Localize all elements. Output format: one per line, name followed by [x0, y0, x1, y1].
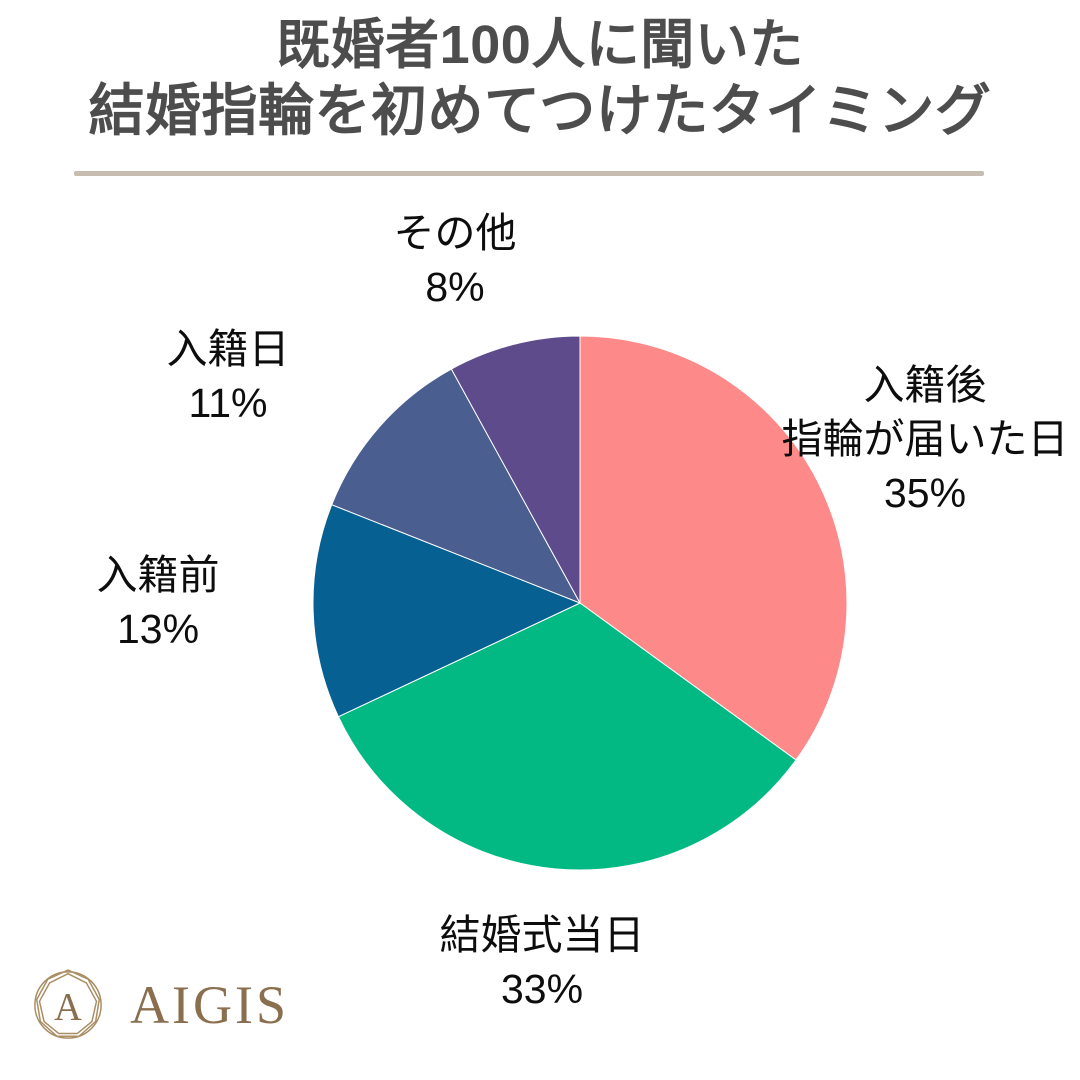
- pie-slice-group: [313, 336, 847, 870]
- aigis-wordmark: AIGIS: [130, 978, 289, 1032]
- pie-slice: [451, 336, 580, 603]
- aigis-emblem-letter: A: [54, 987, 82, 1029]
- pie-label-nyuseki-day-value: 11%: [88, 376, 368, 430]
- aigis-emblem-icon: A: [22, 959, 114, 1051]
- page-title: 既婚者100人に聞いた 結婚指輪を初めてつけたタイミング: [0, 14, 1080, 144]
- pie-label-after-registration-name-line2: 指輪が届いた日: [770, 412, 1080, 466]
- pie-label-nyuseki-day: 入籍日 11%: [88, 322, 368, 430]
- pie-slice: [338, 603, 796, 870]
- pie-slice: [313, 505, 580, 717]
- pie-label-other: その他 8%: [290, 206, 620, 314]
- title-line-1: 既婚者100人に聞いた: [0, 14, 1080, 78]
- pie-label-wedding-day-name: 結婚式当日: [392, 908, 692, 962]
- pie-label-nyuseki-before-name: 入籍前: [18, 548, 298, 602]
- pie-label-wedding-day-value: 33%: [392, 962, 692, 1016]
- pie-label-other-name: その他: [290, 206, 620, 260]
- pie-slice: [332, 369, 580, 603]
- infographic-canvas: 既婚者100人に聞いた 結婚指輪を初めてつけたタイミング その他 8% 入籍日 …: [0, 0, 1080, 1080]
- title-underline-divider: [74, 171, 984, 176]
- pie-label-after-registration-value: 35%: [770, 466, 1080, 520]
- pie-label-wedding-day: 結婚式当日 33%: [392, 908, 692, 1016]
- pie-label-after-registration: 入籍後 指輪が届いた日 35%: [770, 358, 1080, 520]
- pie-label-nyuseki-before: 入籍前 13%: [18, 548, 298, 656]
- aigis-logo: A AIGIS: [22, 952, 322, 1058]
- pie-label-nyuseki-before-value: 13%: [18, 602, 298, 656]
- pie-label-nyuseki-day-name: 入籍日: [88, 322, 368, 376]
- pie-label-other-value: 8%: [290, 260, 620, 314]
- title-line-2: 結婚指輪を初めてつけたタイミング: [0, 78, 1080, 144]
- pie-label-after-registration-name-line1: 入籍後: [770, 358, 1080, 412]
